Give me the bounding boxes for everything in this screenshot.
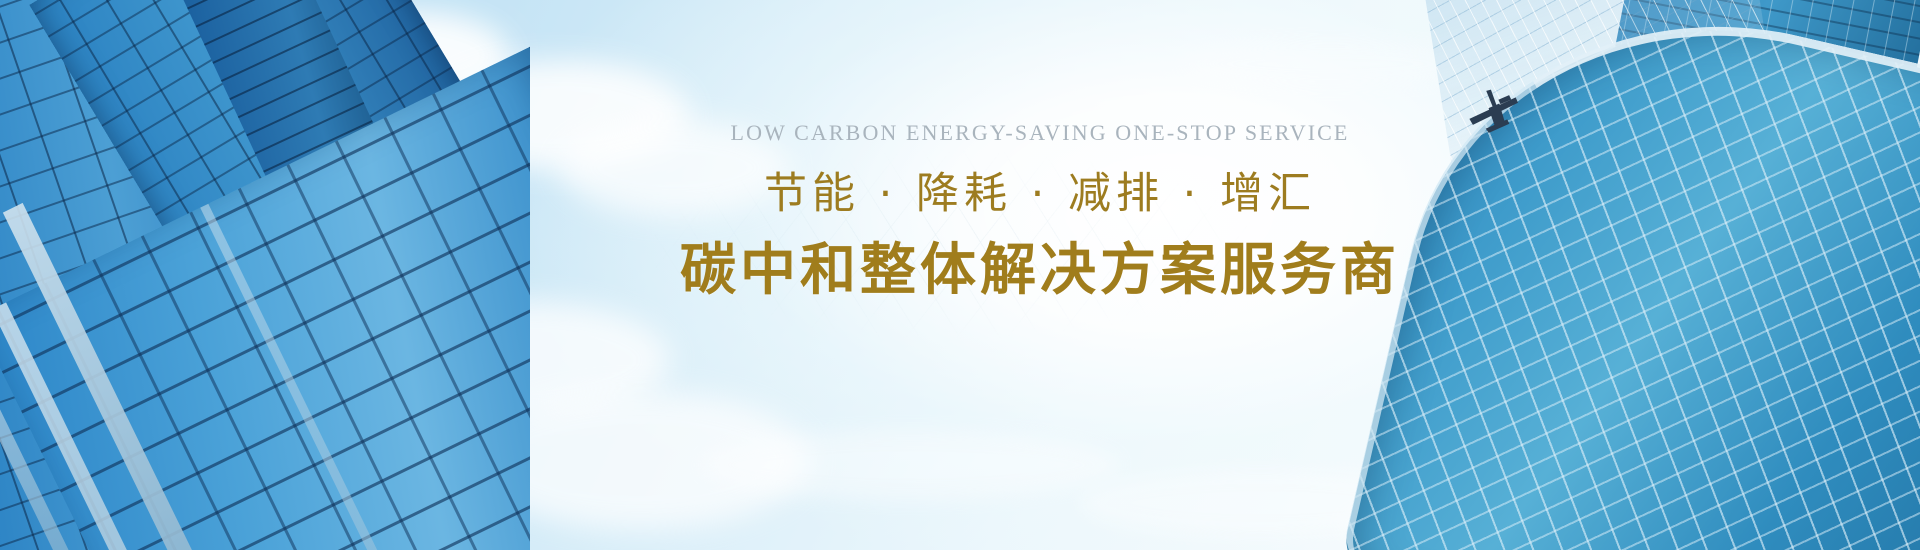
banner-headline: 碳中和整体解决方案服务商 [480, 236, 1600, 306]
banner-eyebrow-text: LOW CARBON ENERGY-SAVING ONE-STOP SERVIC… [480, 118, 1600, 148]
banner-subheadline: 节能 · 降耗 · 减排 · 增汇 [480, 166, 1600, 222]
hero-banner: LOW CARBON ENERGY-SAVING ONE-STOP SERVIC… [0, 0, 1920, 550]
banner-text-block: LOW CARBON ENERGY-SAVING ONE-STOP SERVIC… [480, 118, 1600, 306]
left-buildings [0, 0, 530, 550]
